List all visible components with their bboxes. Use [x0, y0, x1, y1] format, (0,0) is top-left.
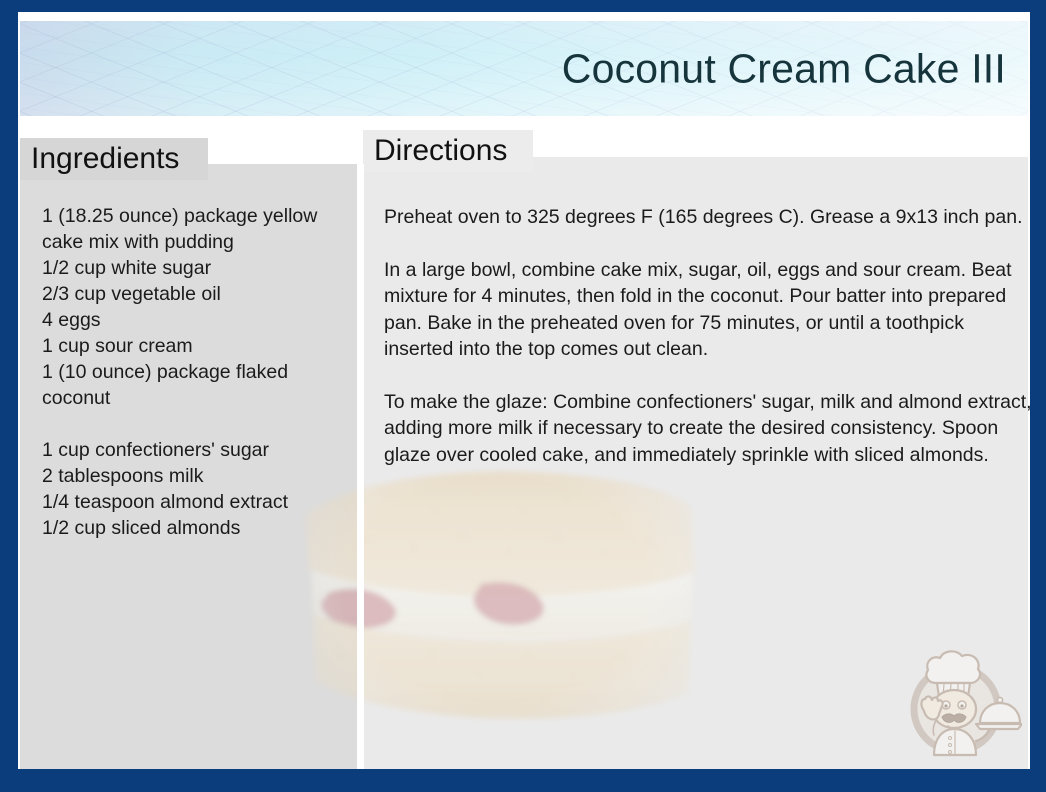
direction-step: To make the glaze: Combine confectioners…	[384, 389, 1030, 469]
directions-heading-label: Directions	[374, 136, 507, 166]
directions-list: Preheat oven to 325 degrees F (165 degre…	[384, 204, 1030, 468]
directions-heading-tab: Directions	[363, 130, 533, 172]
header-banner: Coconut Cream Cake III	[20, 21, 1028, 116]
ingredients-list: 1 (18.25 ounce) package yellow cake mix …	[42, 203, 354, 541]
ingredients-heading-tab: Ingredients	[20, 138, 208, 180]
recipe-card-body: Coconut Cream Cake III	[18, 12, 1030, 769]
direction-step: In a large bowl, combine cake mix, sugar…	[384, 257, 1030, 363]
direction-step: Preheat oven to 325 degrees F (165 degre…	[384, 204, 1030, 231]
page-title: Coconut Cream Cake III	[562, 48, 1006, 89]
recipe-card-page: Coconut Cream Cake III	[0, 0, 1046, 792]
column-gutter	[357, 164, 364, 769]
ingredients-heading-label: Ingredients	[31, 144, 179, 174]
